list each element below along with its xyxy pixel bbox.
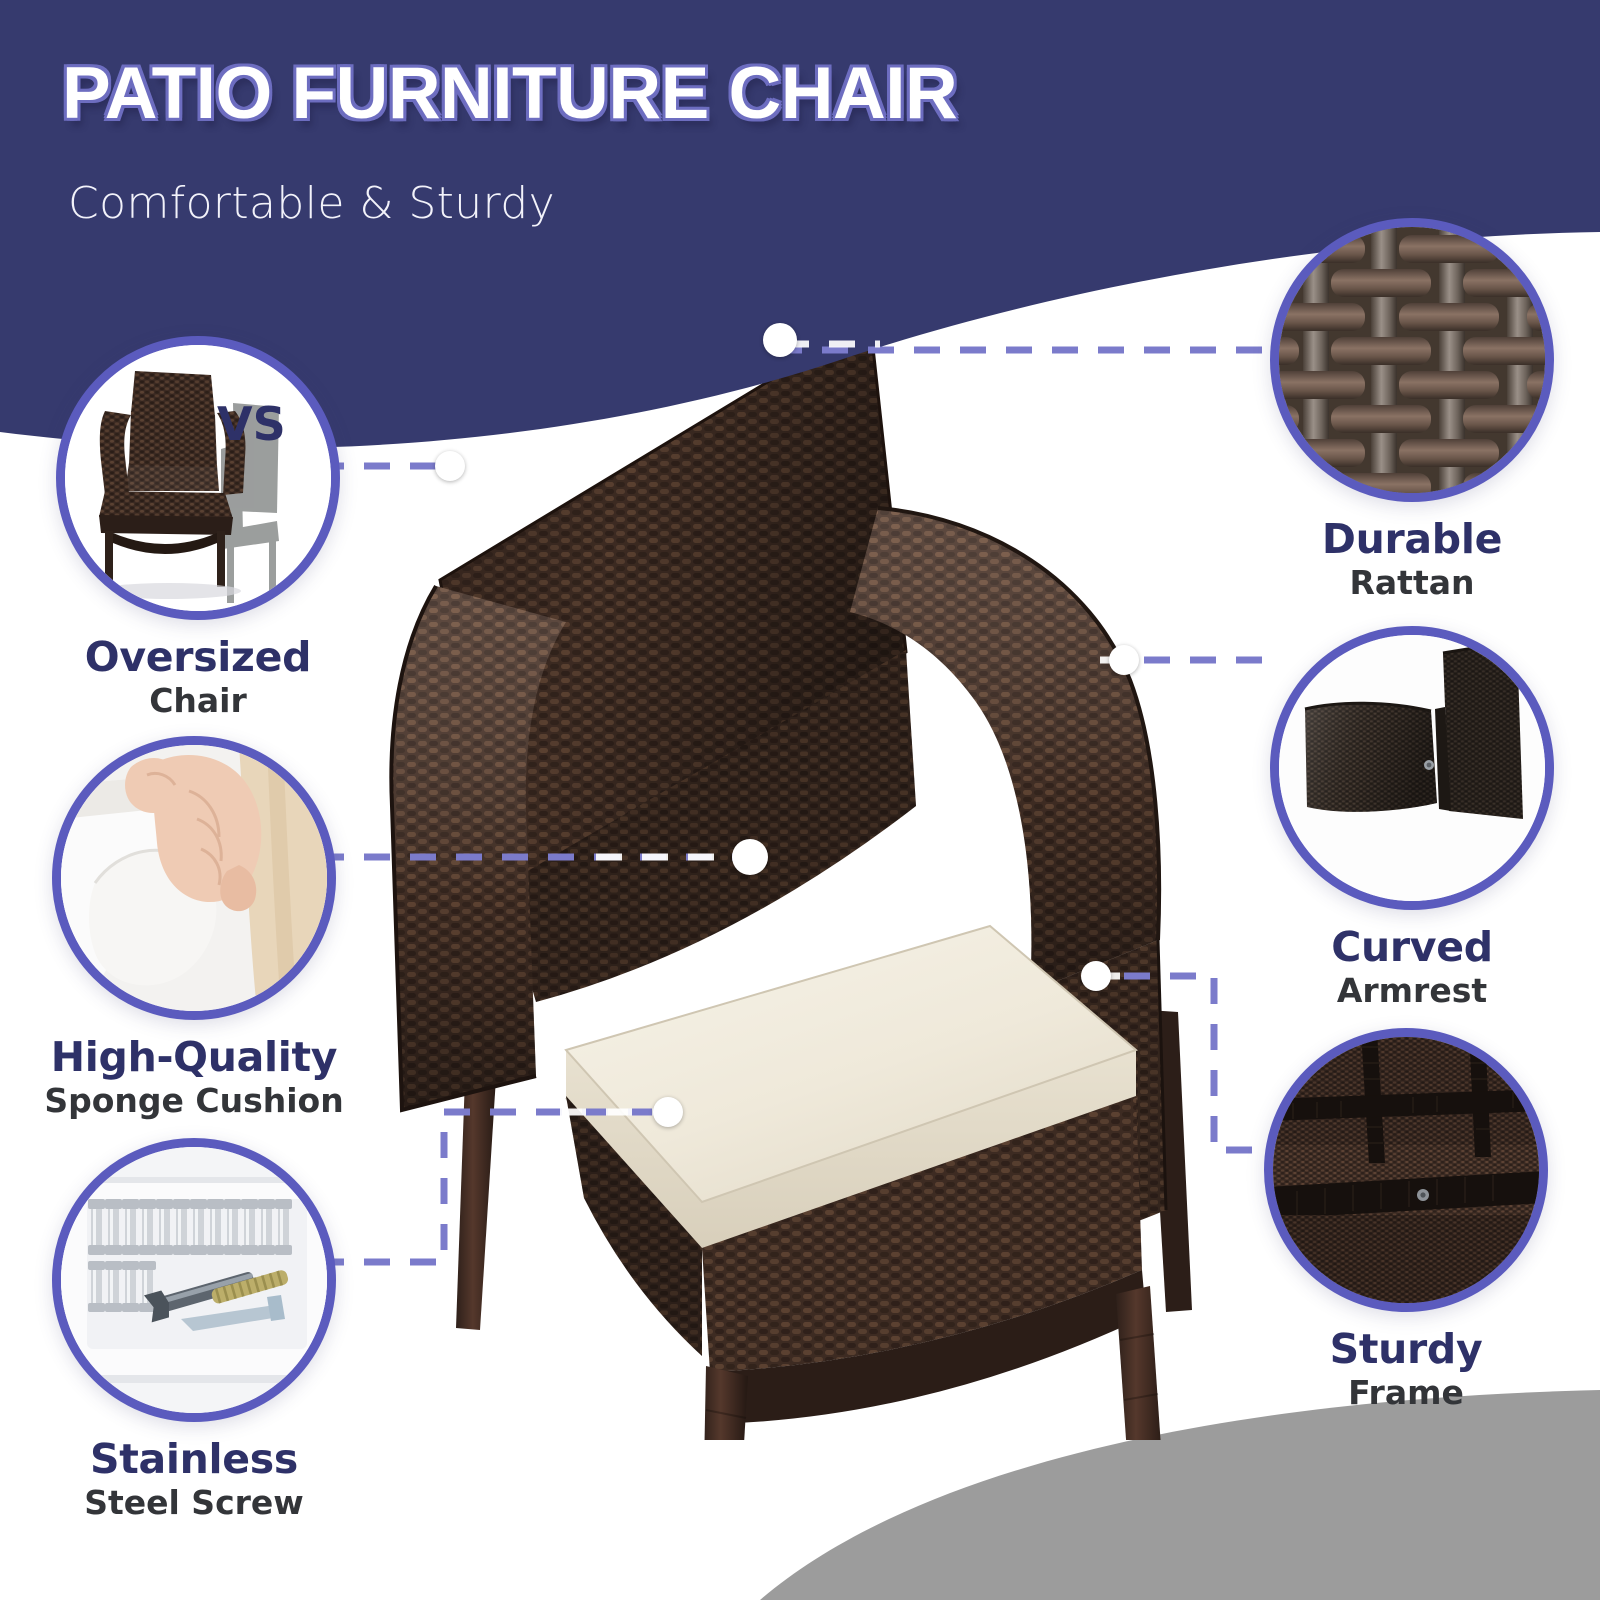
feature-stainless-screw-title: Stainless <box>44 1438 344 1481</box>
feature-sturdy-frame-image <box>1264 1028 1548 1312</box>
feature-curved-armrest-image <box>1270 626 1554 910</box>
feature-sponge-cushion-title: High-Quality <box>44 1036 344 1079</box>
hotspot-armrest[interactable] <box>1109 645 1139 675</box>
feature-sponge-cushion-image <box>52 736 336 1020</box>
feature-durable-rattan[interactable]: Durable Rattan <box>1262 218 1562 601</box>
page-subtitle: Comfortable & Sturdy <box>68 178 555 229</box>
hotspot-frame[interactable] <box>1081 961 1111 991</box>
hotspot-screw[interactable] <box>653 1097 683 1127</box>
feature-durable-rattan-subtitle: Rattan <box>1262 565 1562 601</box>
feature-durable-rattan-title: Durable <box>1262 518 1562 561</box>
hotspot-cushion[interactable] <box>732 839 768 875</box>
feature-curved-armrest-title: Curved <box>1262 926 1562 969</box>
feature-oversized-title: Oversized <box>48 636 348 679</box>
feature-sturdy-frame-subtitle: Frame <box>1256 1375 1556 1411</box>
feature-curved-armrest-subtitle: Armrest <box>1262 973 1562 1009</box>
vs-badge: VS <box>217 397 286 451</box>
feature-oversized-image: VS <box>56 336 340 620</box>
feature-curved-armrest[interactable]: Curved Armrest <box>1262 626 1562 1009</box>
feature-stainless-screw-subtitle: Steel Screw <box>44 1485 344 1521</box>
feature-stainless-screw-image <box>52 1138 336 1422</box>
feature-durable-rattan-image <box>1270 218 1554 502</box>
hotspot-backrest-rattan[interactable] <box>763 323 797 357</box>
feature-sturdy-frame-title: Sturdy <box>1256 1328 1556 1371</box>
feature-stainless-screw[interactable]: Stainless Steel Screw <box>44 1138 344 1521</box>
feature-sponge-cushion[interactable]: High-Quality Sponge Cushion <box>44 736 344 1119</box>
feature-oversized-subtitle: Chair <box>48 683 348 719</box>
feature-sponge-cushion-subtitle: Sponge Cushion <box>44 1083 344 1119</box>
page-title: PATIO FURNITURE CHAIR <box>62 52 957 135</box>
feature-oversized[interactable]: VS Oversized Chair <box>48 336 348 719</box>
hotspot-backrest-oversized[interactable] <box>435 451 465 481</box>
feature-sturdy-frame[interactable]: Sturdy Frame <box>1256 1028 1556 1411</box>
infographic-canvas: PATIO FURNITURE CHAIR Comfortable & Stur… <box>0 0 1600 1600</box>
